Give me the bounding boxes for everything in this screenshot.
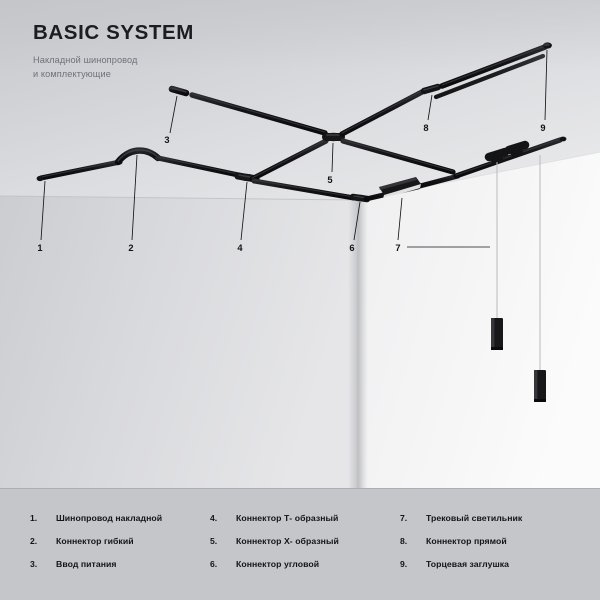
legend-item: 2. Коннектор гибкий bbox=[30, 536, 200, 559]
callout-number-1: 1 bbox=[37, 243, 42, 253]
legend-item: 4. Коннектор Т- образный bbox=[210, 513, 400, 536]
legend-column-1: 1. Шинопровод накладной 2. Коннектор гиб… bbox=[0, 513, 200, 582]
legend-label: Коннектор гибкий bbox=[56, 536, 134, 546]
callout-number-2: 2 bbox=[128, 243, 133, 253]
legend-label: Коннектор Т- образный bbox=[236, 513, 338, 523]
legend-number: 8. bbox=[400, 536, 426, 546]
legend-number: 5. bbox=[210, 536, 236, 546]
legend-number: 1. bbox=[30, 513, 56, 523]
legend-number: 9. bbox=[400, 559, 426, 569]
callout-number-5: 5 bbox=[327, 175, 332, 185]
legend-panel: 1. Шинопровод накладной 2. Коннектор гиб… bbox=[0, 488, 600, 600]
legend-item: 7. Трековый светильник bbox=[400, 513, 600, 536]
legend-label: Торцевая заглушка bbox=[426, 559, 509, 569]
subtitle-line-1: Накладной шинопровод bbox=[33, 54, 194, 68]
legend-columns: 1. Шинопровод накладной 2. Коннектор гиб… bbox=[0, 513, 600, 582]
legend-number: 6. bbox=[210, 559, 236, 569]
legend-label: Трековый светильник bbox=[426, 513, 522, 523]
title-block: BASIC SYSTEM Накладной шинопровод и комп… bbox=[33, 22, 194, 82]
legend-number: 2. bbox=[30, 536, 56, 546]
legend-number: 3. bbox=[30, 559, 56, 569]
callout-number-6: 6 bbox=[349, 243, 354, 253]
basic-system-infographic: BASIC SYSTEM Накладной шинопровод и комп… bbox=[0, 0, 600, 600]
legend-item: 8. Коннектор прямой bbox=[400, 536, 600, 559]
legend-label: Коннектор прямой bbox=[426, 536, 507, 546]
legend-label: Ввод питания bbox=[56, 559, 117, 569]
callout-number-9: 9 bbox=[540, 123, 545, 133]
legend-label: Шинопровод накладной bbox=[56, 513, 162, 523]
subtitle-line-2: и комплектующие bbox=[33, 68, 194, 82]
legend-item: 1. Шинопровод накладной bbox=[30, 513, 200, 536]
room-render-scene: BASIC SYSTEM Накладной шинопровод и комп… bbox=[0, 0, 600, 488]
legend-column-2: 4. Коннектор Т- образный 5. Коннектор Х-… bbox=[200, 513, 400, 582]
callout-number-8: 8 bbox=[423, 123, 428, 133]
callout-number-7: 7 bbox=[395, 243, 400, 253]
legend-item: 3. Ввод питания bbox=[30, 559, 200, 582]
page-subtitle: Накладной шинопровод и комплектующие bbox=[33, 54, 194, 82]
legend-column-3: 7. Трековый светильник 8. Коннектор прям… bbox=[400, 513, 600, 582]
legend-item: 5. Коннектор Х- образный bbox=[210, 536, 400, 559]
legend-item: 6. Коннектор угловой bbox=[210, 559, 400, 582]
legend-number: 7. bbox=[400, 513, 426, 523]
legend-item: 9. Торцевая заглушка bbox=[400, 559, 600, 582]
callout-number-3: 3 bbox=[164, 135, 169, 145]
legend-number: 4. bbox=[210, 513, 236, 523]
callout-number-4: 4 bbox=[237, 243, 242, 253]
legend-label: Коннектор угловой bbox=[236, 559, 319, 569]
page-title: BASIC SYSTEM bbox=[33, 22, 194, 45]
legend-label: Коннектор Х- образный bbox=[236, 536, 339, 546]
